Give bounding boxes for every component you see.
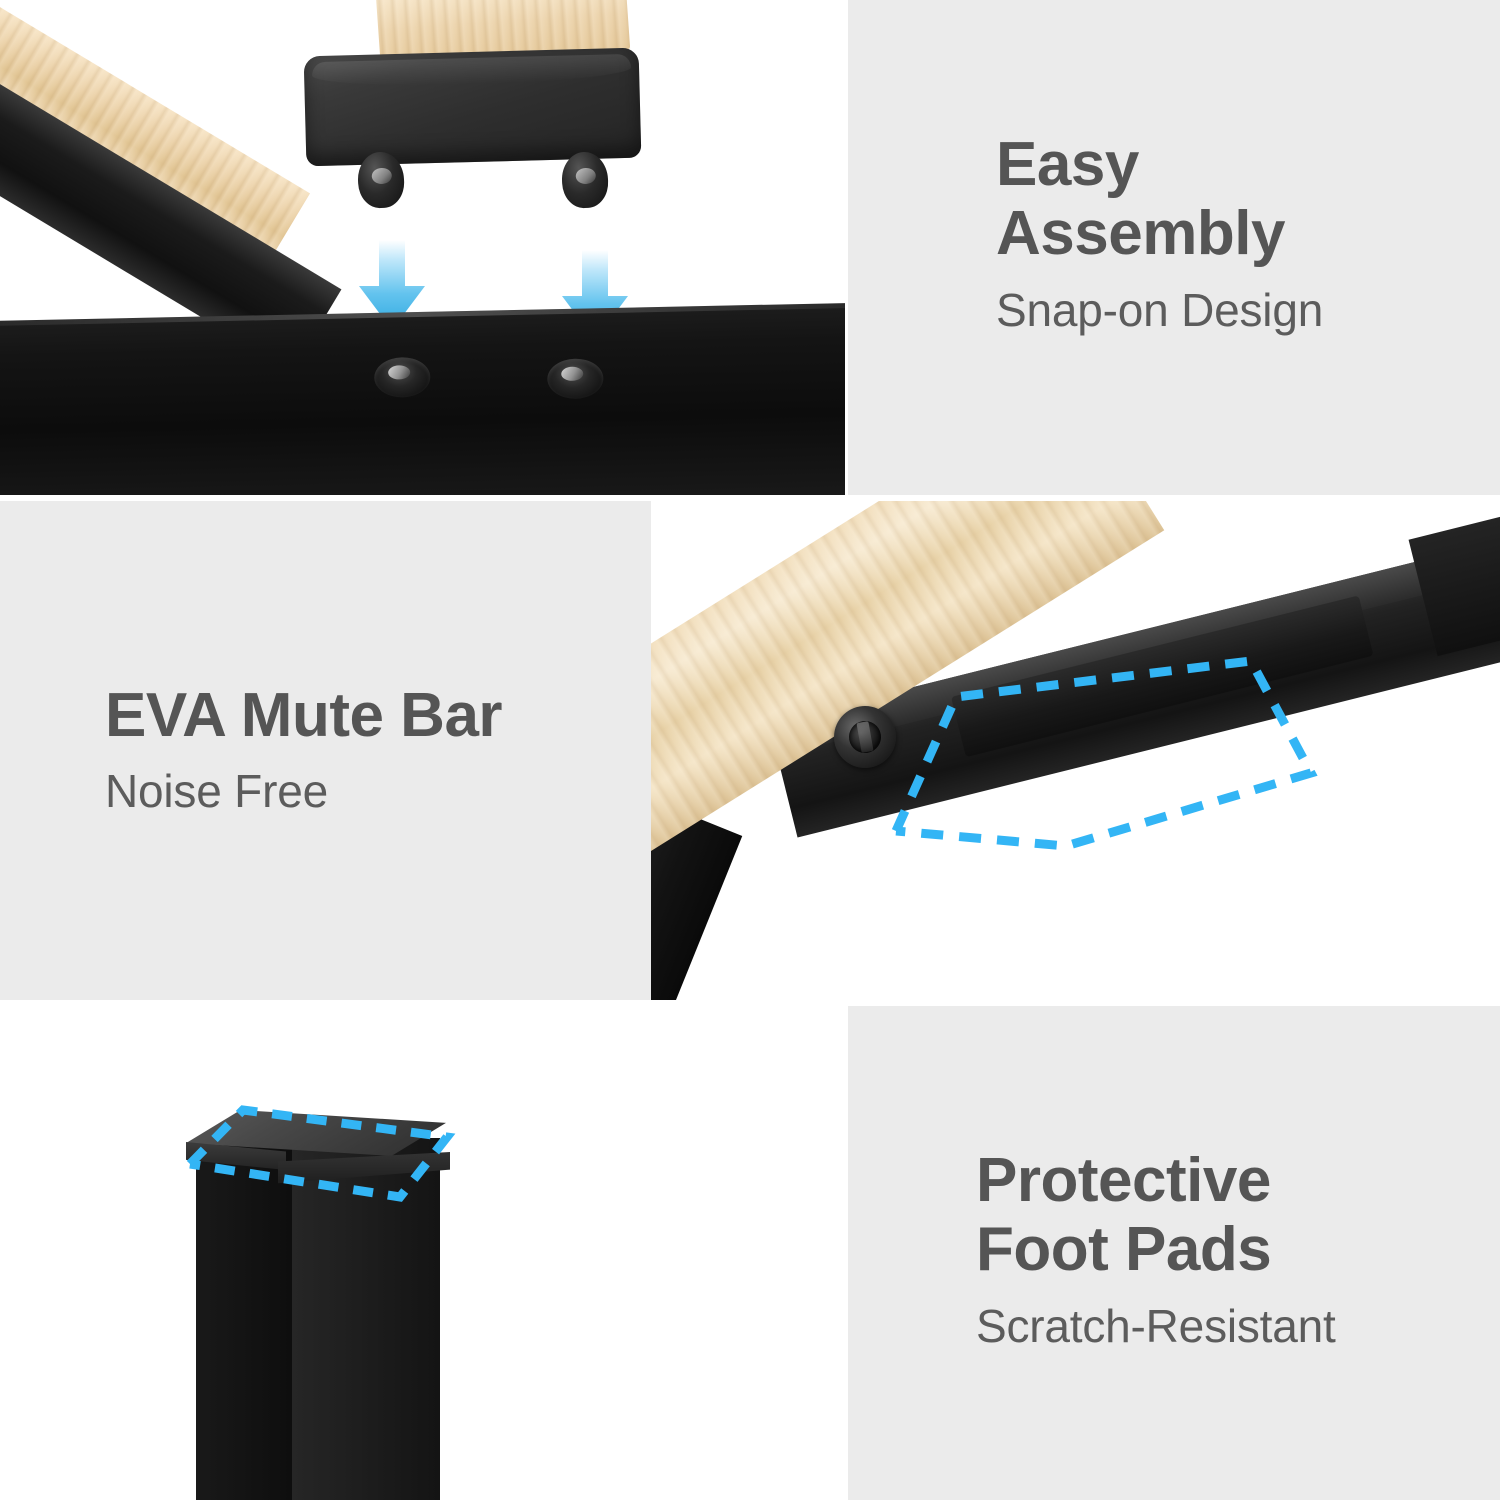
eva-mute-bar-photo xyxy=(651,501,1500,1000)
metal-bar-with-sockets xyxy=(0,303,845,495)
protective-foot-pad-photo xyxy=(0,1006,845,1500)
socket-highlight xyxy=(561,367,583,381)
blue-dashed-highlight xyxy=(651,501,1500,1000)
cap-pin-right xyxy=(561,151,610,209)
pin-highlight xyxy=(371,167,392,184)
easy-assembly-text-block: Easy Assembly Snap-on Design xyxy=(996,130,1323,338)
easy-assembly-text-panel: Easy Assembly Snap-on Design xyxy=(848,0,1500,495)
easy-assembly-heading: Easy Assembly xyxy=(996,130,1323,269)
socket-right xyxy=(547,358,604,399)
eva-mute-bar-text-panel: EVA Mute Bar Noise Free xyxy=(0,501,651,1000)
eva-mute-bar-text-block: EVA Mute Bar Noise Free xyxy=(105,681,502,820)
eva-mute-bar-heading: EVA Mute Bar xyxy=(105,681,502,750)
protective-foot-pads-text-panel: Protective Foot Pads Scratch-Resistant xyxy=(848,1006,1500,1500)
protective-foot-pads-heading: Protective Foot Pads xyxy=(976,1146,1336,1285)
pin-highlight xyxy=(575,167,596,184)
black-end-cap xyxy=(304,48,642,167)
blue-dashed-highlight xyxy=(0,1006,845,1500)
protective-foot-pads-text-block: Protective Foot Pads Scratch-Resistant xyxy=(976,1146,1336,1354)
socket-left xyxy=(374,357,431,398)
protective-foot-pads-subheading: Scratch-Resistant xyxy=(976,1299,1336,1354)
eva-mute-bar-subheading: Noise Free xyxy=(105,764,502,819)
snap-on-foot-cap-photo xyxy=(0,0,845,495)
socket-highlight xyxy=(388,365,410,379)
product-feature-infographic: Easy Assembly Snap-on Design EVA Mute Ba… xyxy=(0,0,1500,1500)
easy-assembly-subheading: Snap-on Design xyxy=(996,283,1323,338)
